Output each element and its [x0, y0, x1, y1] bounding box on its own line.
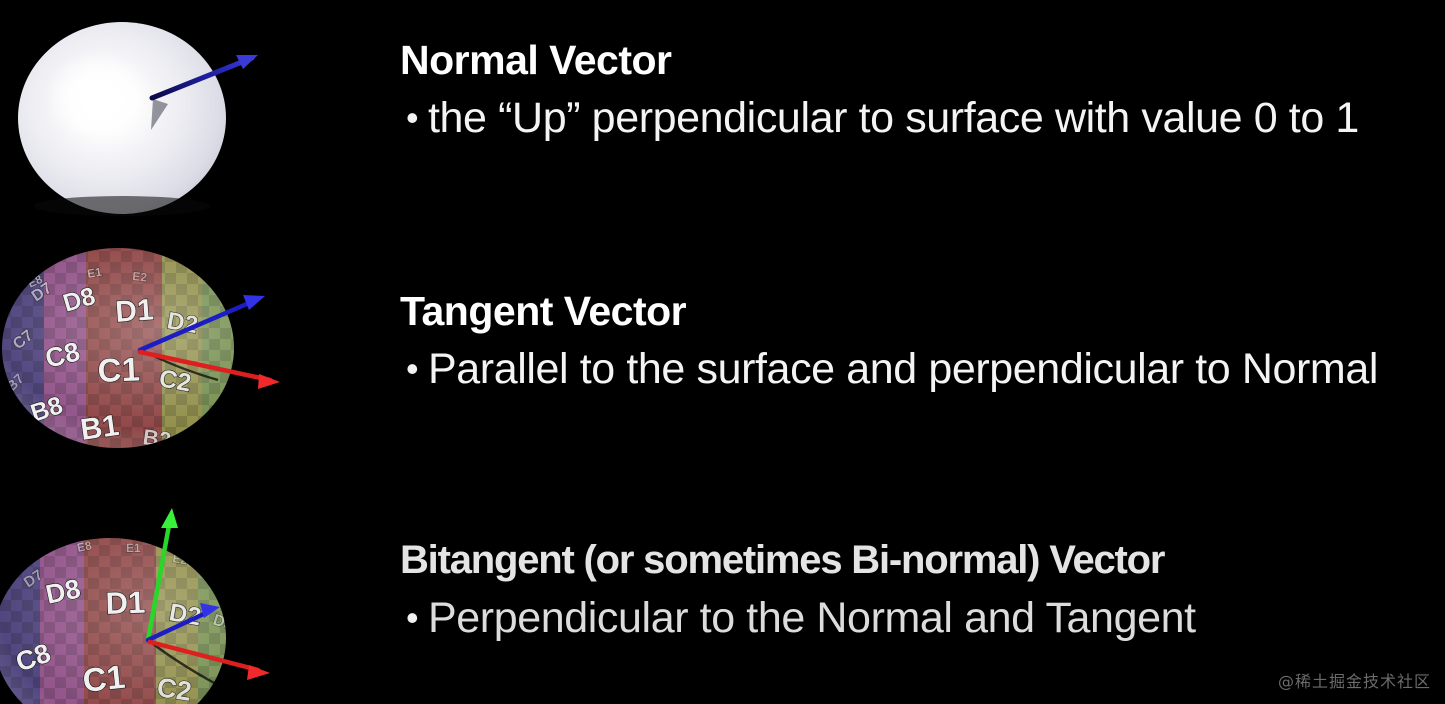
svg-text:E1: E1	[86, 265, 103, 281]
svg-text:D1: D1	[114, 293, 155, 329]
section-normal-vector: Normal Vector • the “Up” perpendicular t…	[398, 38, 1445, 142]
bullet-marker-icon: •	[398, 594, 428, 642]
svg-text:D2: D2	[165, 307, 200, 339]
svg-text:C2: C2	[155, 672, 193, 704]
tangent-vector-illustration: E8 E1 E2 D7 D8 D1 D2 C7 C8 C1 C2 B7 B8 B…	[0, 240, 395, 490]
bitangent-vector-illustration: E8 E1 E2 D7 D8 D1 D2 D3 C8 C1 C2	[0, 490, 395, 704]
svg-text:D1: D1	[105, 585, 146, 621]
bullet-bitangent-vector: • Perpendicular to the Normal and Tangen…	[398, 594, 1445, 642]
section-bitangent-vector: Bitangent (or sometimes Bi-normal) Vecto…	[398, 539, 1445, 642]
bullet-text-tangent: Parallel to the surface and perpendicula…	[428, 345, 1445, 393]
heading-normal-vector: Normal Vector	[400, 38, 1445, 82]
heading-tangent-vector: Tangent Vector	[400, 289, 1445, 333]
bullet-marker-icon: •	[398, 345, 428, 393]
render-normal-vector	[0, 0, 395, 240]
svg-text:C1: C1	[97, 351, 140, 389]
heading-bitangent-vector: Bitangent (or sometimes Bi-normal) Vecto…	[400, 539, 1445, 582]
svg-text:E1: E1	[126, 541, 141, 555]
render-bitangent-vector: E8 E1 E2 D7 D8 D1 D2 D3 C8 C1 C2	[0, 490, 395, 704]
render-tangent-vector: E8 E1 E2 D7 D8 D1 D2 C7 C8 C1 C2 B7 B8 B…	[0, 240, 395, 490]
bullet-normal-vector: • the “Up” perpendicular to surface with…	[398, 94, 1445, 142]
bullet-marker-icon: •	[398, 94, 428, 142]
svg-text:B1: B1	[78, 409, 121, 447]
bullet-text-normal: the “Up” perpendicular to surface with v…	[428, 94, 1445, 142]
watermark: @稀土掘金技术社区	[1278, 668, 1431, 692]
normal-vector-illustration	[0, 0, 395, 240]
bullet-tangent-vector: • Parallel to the surface and perpendicu…	[398, 345, 1445, 393]
slide-canvas: E8 E1 E2 D7 D8 D1 D2 C7 C8 C1 C2 B7 B8 B…	[0, 0, 1445, 704]
svg-text:E2: E2	[132, 269, 148, 284]
bullet-text-bitangent: Perpendicular to the Normal and Tangent	[428, 594, 1445, 642]
section-tangent-vector: Tangent Vector • Parallel to the surface…	[398, 289, 1445, 393]
svg-text:C1: C1	[81, 658, 127, 699]
